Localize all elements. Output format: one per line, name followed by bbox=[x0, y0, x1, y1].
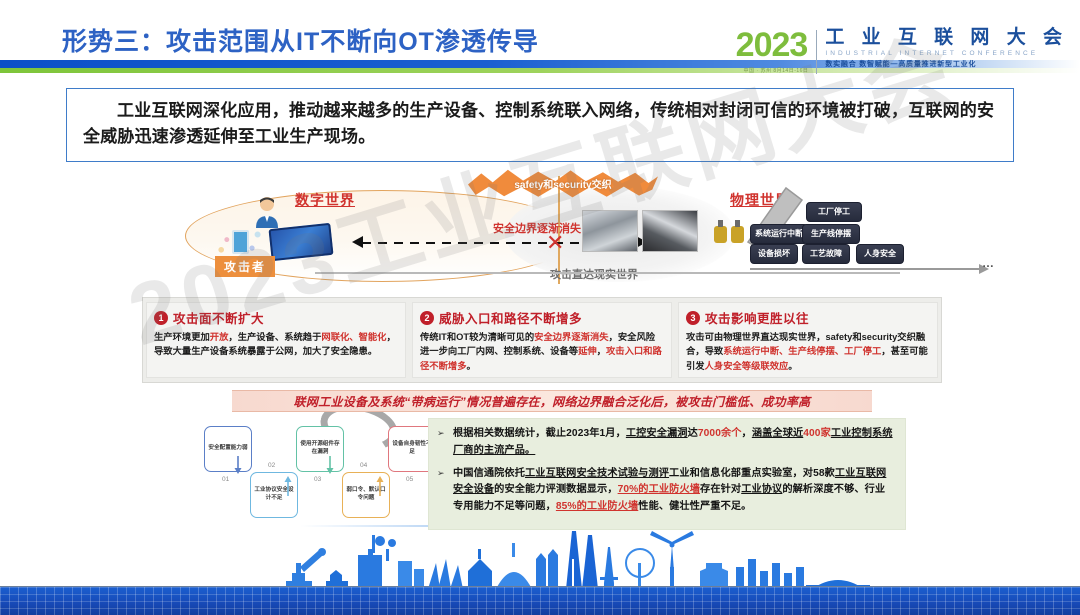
three-factor-cards: 1 攻击面不断扩大 生产环境更加开放，生产设备、系统趋于网联化、智能化，导致大量… bbox=[142, 297, 942, 383]
malware-laptop-icon bbox=[268, 223, 333, 261]
card-title: 威胁入口和路径不断增多 bbox=[439, 308, 582, 327]
flow-step-number: 04 bbox=[360, 462, 367, 469]
card-number: 3 bbox=[686, 311, 700, 325]
logo-year: 2023 bbox=[736, 28, 817, 62]
city-skyline-icon bbox=[0, 527, 1080, 589]
attacker-label: 攻击者 bbox=[215, 256, 275, 277]
bullet-arrow-icon: ➢ bbox=[437, 466, 447, 516]
tablet-icon bbox=[232, 230, 249, 254]
digital-world-label: 数字世界 bbox=[295, 190, 355, 210]
concept-illustration: safety和security交织 数字世界 物理世界 攻击者 安全边界逐渐消失… bbox=[150, 168, 950, 288]
page-title: 形势三：攻击范围从IT不断向OT渗透传导 bbox=[62, 22, 539, 58]
escalation-box-3: 生产线停摆 bbox=[802, 224, 860, 244]
flow-step-number: 02 bbox=[268, 462, 275, 469]
flow-step-box: 安全配置能力弱 bbox=[204, 426, 252, 472]
escalation-box-1: 系统运行中断 bbox=[750, 224, 808, 244]
logo-year-subtitle: 中国 · 苏州 8月14日-16日 bbox=[744, 67, 809, 74]
card-title: 攻击面不断扩大 bbox=[173, 308, 264, 327]
vulnerability-flow: 安全配置能力弱 01 工业协议安全设计不足 02 使用开源组件存在漏洞 03 弱… bbox=[200, 422, 440, 530]
escalation-box-5: 人身安全 bbox=[856, 244, 904, 264]
statistics-item: ➢ 中国信通院依托工业互联网安全技术试验与测评工业和信息化部重点实验室，对58款… bbox=[437, 466, 895, 516]
attack-reaches-label: 攻击直达现实世界 bbox=[550, 266, 638, 282]
card-number: 1 bbox=[154, 311, 168, 325]
flow-step-box: 工业协议安全设计不足 bbox=[250, 472, 298, 518]
conference-logo: 2023 中国 · 苏州 8月14日-16日 工 业 互 联 网 大 会 IND… bbox=[736, 28, 1068, 74]
logo-tagline: 数实融合 数智赋能—高质量推进新型工业化 bbox=[825, 59, 1068, 69]
flow-step-number: 05 bbox=[406, 476, 413, 483]
footer-decoration bbox=[0, 525, 1080, 615]
escalation-box-2: 工艺故障 bbox=[802, 244, 850, 264]
red-cross-icon: ✕ bbox=[546, 232, 564, 254]
footer-grid-band bbox=[0, 587, 1080, 615]
statistics-item: ➢ 根据相关数据统计，截止2023年1月，工控安全漏洞达7000余个，涵盖全球近… bbox=[437, 426, 895, 460]
card-body: 攻击可由物理世界直达现实世界，safety和security交织融合，导致系统运… bbox=[686, 330, 930, 373]
card-body: 传统IT和OT较为清晰可见的安全边界逐渐消失，安全风险进一步向工厂内网、控制系统… bbox=[420, 330, 664, 373]
escalation-box-0: 设备损坏 bbox=[750, 244, 798, 264]
card-title: 攻击影响更胜以往 bbox=[705, 308, 809, 327]
card-number: 2 bbox=[420, 311, 434, 325]
bullet-arrow-icon: ➢ bbox=[437, 426, 447, 460]
escalation-box-4: 工厂停工 bbox=[806, 202, 862, 222]
card-body: 生产环境更加开放，生产设备、系统趋于网联化、智能化，导致大量生产设备系统暴露于公… bbox=[154, 330, 398, 359]
logo-chinese-name: 工 业 互 联 网 大 会 bbox=[825, 28, 1068, 48]
logo-divider bbox=[816, 30, 817, 74]
boundary-label: 安全边界逐渐消失 bbox=[493, 220, 581, 236]
flow-step-number: 03 bbox=[314, 476, 321, 483]
slide-root: 2023工业互联网大会 形势三：攻击范围从IT不断向OT渗透传导 2023 中国… bbox=[0, 0, 1080, 615]
key-message-text: 联网工业设备及系统“带病运行”情况普遍存在，网络边界融合泛化后，被攻击门槛低、成… bbox=[294, 393, 811, 410]
factor-card: 2 威胁入口和路径不断增多 传统IT和OT较为清晰可见的安全边界逐渐消失，安全风… bbox=[412, 302, 672, 378]
key-message-banner: 联网工业设备及系统“带病运行”情况普遍存在，网络边界融合泛化后，被攻击门槛低、成… bbox=[232, 390, 872, 412]
flow-step-box: 弱口令、默认口令问题 bbox=[342, 472, 390, 518]
logo-english-name: INDUSTRIAL INTERNET CONFERENCE bbox=[825, 50, 1068, 57]
factory-photo-2 bbox=[642, 210, 698, 252]
hacker-person-icon bbox=[254, 196, 280, 228]
escalation-axis bbox=[750, 268, 980, 270]
lead-paragraph: 工业互联网深化应用，推动越来越多的生产设备、控制系统联入网络，传统相对封闭可信的… bbox=[66, 88, 1014, 162]
escalation-ellipsis: … bbox=[982, 256, 994, 270]
baseline-rule bbox=[315, 272, 900, 274]
factory-photo-1 bbox=[582, 210, 638, 252]
flow-step-box: 使用开源组件存在漏洞 bbox=[296, 426, 344, 472]
factor-card: 1 攻击面不断扩大 生产环境更加开放，生产设备、系统趋于网联化、智能化，导致大量… bbox=[146, 302, 406, 378]
factor-card: 3 攻击影响更胜以往 攻击可由物理世界直达现实世界，safety和securit… bbox=[678, 302, 938, 378]
statistics-text: 根据相关数据统计，截止2023年1月，工控安全漏洞达7000余个，涵盖全球近40… bbox=[453, 426, 895, 460]
flow-step-number: 01 bbox=[222, 476, 229, 483]
statistics-panel: ➢ 根据相关数据统计，截止2023年1月，工控安全漏洞达7000余个，涵盖全球近… bbox=[428, 418, 906, 530]
statistics-text: 中国信通院依托工业互联网安全技术试验与测评工业和信息化部重点实验室，对58款工业… bbox=[453, 466, 895, 516]
